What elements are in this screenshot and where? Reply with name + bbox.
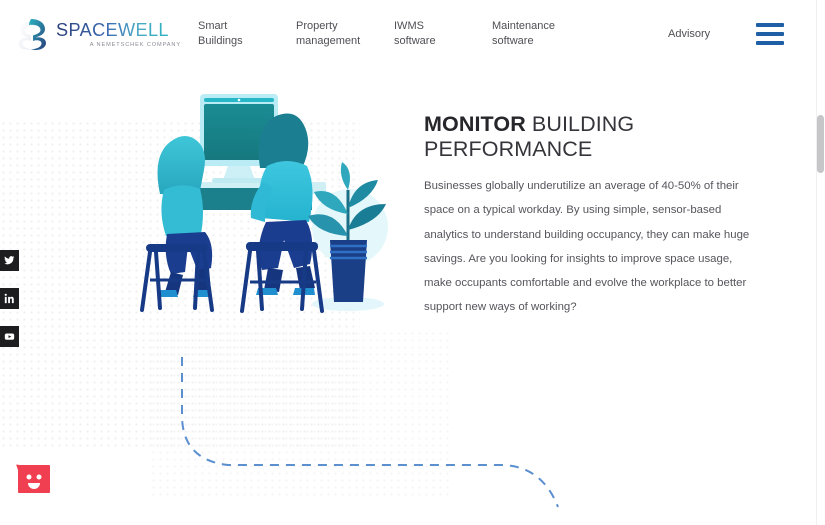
wordmark-text: SPACEWELL (56, 20, 169, 40)
person-woman (142, 136, 212, 310)
nav-advisory-label: Advisory (668, 28, 710, 40)
nav-label-line2: management (296, 34, 390, 49)
nav-label-line2: software (492, 34, 586, 49)
spacewell-wordmark: SPACEWELL (56, 20, 182, 41)
nav-advisory[interactable]: Advisory (668, 27, 714, 42)
nav-label-line2: software (394, 34, 488, 49)
site-header: SPACEWELL A NEMETSCHEK COMPANY Smart Bui… (0, 0, 825, 68)
monitor-stand (223, 166, 255, 180)
hamburger-bar-1 (756, 23, 784, 27)
nav-smart-buildings[interactable]: Smart Buildings (198, 19, 296, 49)
nav-label-line1: IWMS (394, 20, 424, 32)
hero-paragraph: Businesses globally underutilize an aver… (424, 174, 759, 320)
social-twitter-button[interactable] (0, 250, 19, 271)
page-scrollbar-track[interactable] (816, 0, 825, 525)
nav-property-management[interactable]: Property management (296, 19, 394, 49)
brand-tagline: A NEMETSCHEK COMPANY (56, 43, 181, 49)
twitter-icon (4, 255, 15, 266)
plant-pot (330, 240, 367, 302)
main-navigation: Smart Buildings Property management IWMS… (198, 19, 714, 49)
hamburger-bar-2 (756, 32, 784, 36)
spacewell-logo-icon (12, 14, 52, 54)
monitor-camera (238, 99, 241, 102)
nav-label-line1: Maintenance (492, 20, 555, 32)
hero-content: MONITOR BUILDING PERFORMANCE Businesses … (424, 112, 759, 320)
page-scrollbar-thumb[interactable] (817, 115, 824, 173)
chat-eye-left (27, 475, 32, 480)
social-youtube-button[interactable] (0, 326, 19, 347)
plant-leaf-top (341, 162, 350, 190)
social-sidebar (0, 250, 19, 364)
nav-label-line2: Buildings (198, 34, 292, 49)
linkedin-icon (4, 293, 15, 304)
page-root: SPACEWELL A NEMETSCHEK COMPANY Smart Bui… (0, 0, 825, 525)
nav-label-line1: Smart (198, 20, 227, 32)
hamburger-bar-3 (756, 41, 784, 45)
social-linkedin-button[interactable] (0, 288, 19, 309)
chat-widget-button[interactable] (16, 461, 52, 499)
nav-iwms-software[interactable]: IWMS software (394, 19, 492, 49)
decorative-dashed-path (150, 355, 580, 525)
youtube-icon (4, 331, 15, 342)
hero-illustration (120, 82, 410, 332)
dashed-path-line (182, 357, 558, 507)
smiley-chat-bubble-icon (16, 461, 52, 499)
hamburger-menu-icon[interactable] (756, 23, 784, 45)
headline-strong: MONITOR (424, 112, 526, 136)
nav-maintenance-software[interactable]: Maintenance software (492, 19, 590, 49)
chat-eye-right (37, 475, 42, 480)
woman-top (161, 185, 203, 239)
brand-logo[interactable]: SPACEWELL A NEMETSCHEK COMPANY (12, 14, 182, 54)
monitor-base (212, 178, 266, 183)
background-dot-texture-secondary (150, 330, 450, 500)
page-title: MONITOR BUILDING PERFORMANCE (424, 112, 759, 162)
nav-label-line1: Property (296, 20, 338, 32)
